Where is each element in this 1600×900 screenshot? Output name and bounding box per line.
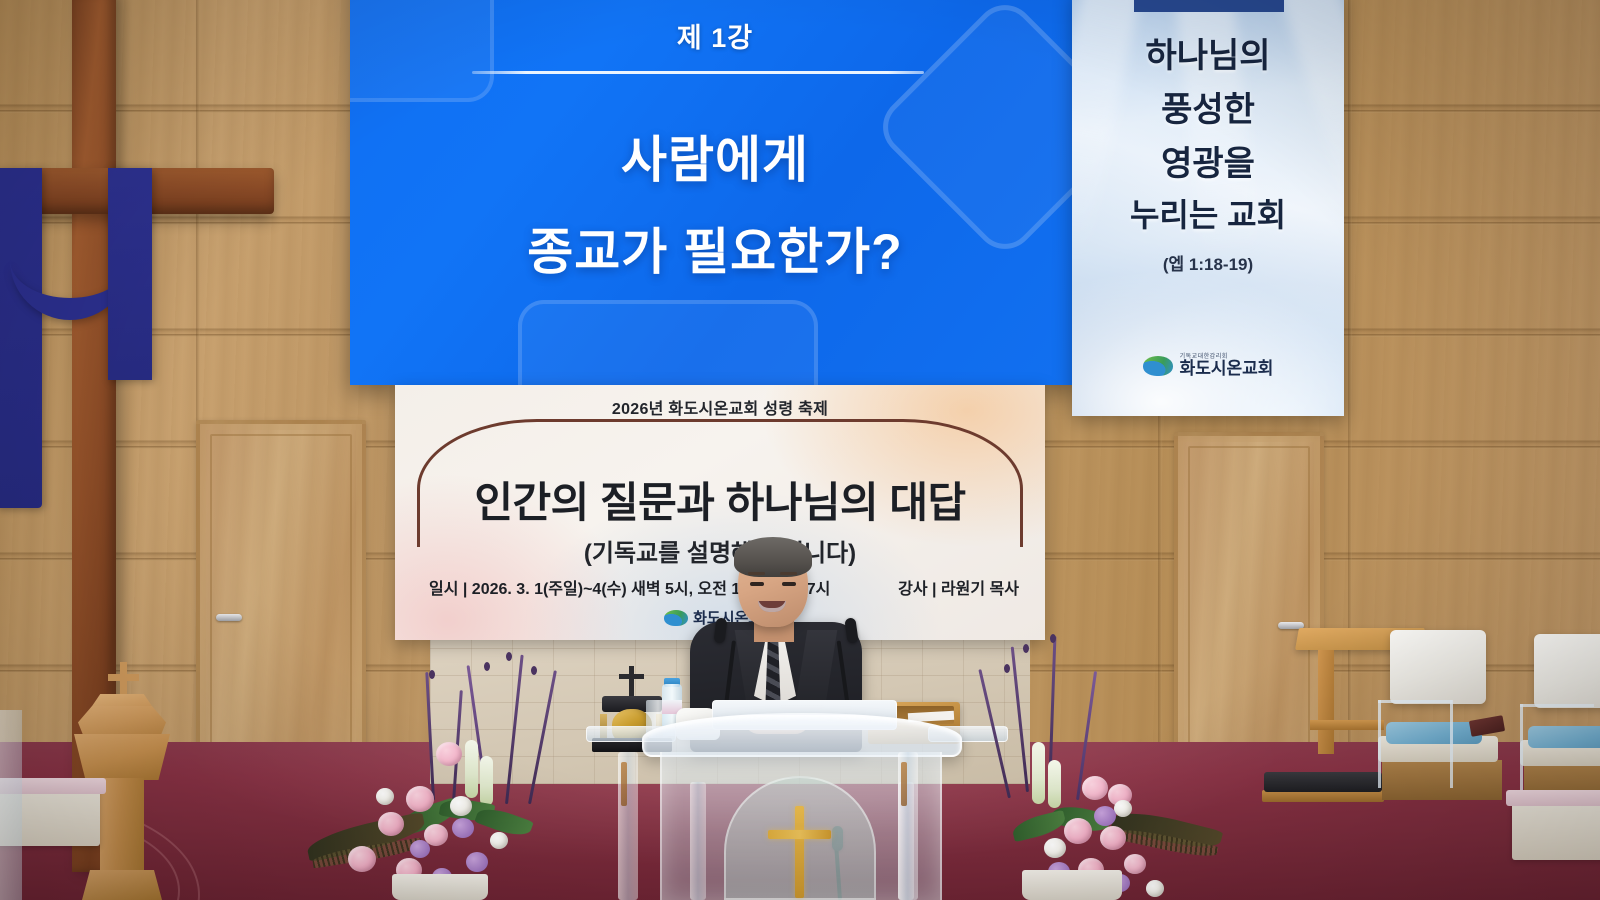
chair-back[interactable] bbox=[1534, 634, 1600, 708]
chair-cushion bbox=[1528, 726, 1600, 748]
baptismal-font-bowl bbox=[74, 734, 170, 780]
flower-vase bbox=[392, 874, 488, 900]
white-rose bbox=[490, 832, 508, 849]
bell-cross-icon bbox=[619, 674, 644, 679]
banner-eyebrow: 2026년 화도시온교회 성령 축제 bbox=[395, 395, 1045, 419]
pulpit-leg bbox=[898, 752, 918, 900]
prayer-kneeler-rail bbox=[1310, 720, 1384, 730]
church-logo: 기독교대한감리회 화도시온교회 bbox=[1072, 354, 1344, 377]
banner-meta: 일시 | 2026. 3. 1(주일)~4(수) 새벽 5시, 오전 10시, … bbox=[429, 575, 1019, 599]
flower-bud bbox=[1004, 664, 1010, 673]
white-rose bbox=[1044, 838, 1066, 858]
purple-stock bbox=[1094, 806, 1116, 826]
banner-line-4: 누리는 교회 bbox=[1072, 190, 1344, 236]
white-snapdragon bbox=[1048, 760, 1061, 808]
banner-scripture-reference: (엡 1:18-19) bbox=[1072, 250, 1344, 275]
pink-rose bbox=[436, 742, 462, 766]
banner-line-2: 풍성한 bbox=[1072, 82, 1344, 131]
pink-rose bbox=[1082, 776, 1108, 800]
banner-subtitle: (기독교를 설명해 드립니다) bbox=[395, 533, 1045, 568]
main-event-banner: 2026년 화도시온교회 성령 축제 인간의 질문과 하나님의 대답 (기독교를… bbox=[395, 385, 1045, 640]
preacher-eyebrow bbox=[780, 572, 797, 575]
banner-title: 인간의 질문과 하나님의 대답 bbox=[395, 469, 1045, 530]
white-rose bbox=[376, 788, 394, 805]
church-logo-text: 기독교대한감리회 화도시온교회 bbox=[1180, 354, 1274, 377]
white-snapdragon bbox=[465, 740, 478, 798]
door-panel bbox=[210, 434, 352, 746]
side-door-right[interactable] bbox=[1174, 432, 1324, 762]
flower-bud bbox=[531, 666, 537, 675]
slide-title-line2: 종교가 필요한가? bbox=[350, 212, 1080, 284]
cross-sash-right bbox=[108, 168, 152, 380]
pew-cushion-right bbox=[1506, 790, 1600, 806]
bell-cross-icon bbox=[629, 666, 634, 696]
banner-top-block bbox=[1134, 0, 1284, 12]
pulpit-column bbox=[690, 782, 706, 900]
cloud-graphic bbox=[1072, 262, 1344, 416]
banner-line-1: 하나님의 bbox=[1072, 28, 1344, 77]
prayer-kneeler-leg bbox=[1318, 650, 1334, 754]
chair-armrest bbox=[1520, 704, 1594, 707]
pulpit-gold-cross-icon bbox=[768, 830, 831, 839]
flower-bud bbox=[506, 652, 512, 661]
kneeler-pad bbox=[1264, 772, 1382, 792]
preacher-hair bbox=[734, 537, 812, 577]
pink-rose bbox=[1064, 818, 1092, 844]
pink-rose bbox=[1124, 854, 1146, 874]
baptismal-font-base bbox=[82, 870, 162, 900]
pink-rose bbox=[1100, 826, 1126, 850]
chair-base bbox=[1382, 760, 1502, 800]
banner-speaker: 강사 | 라원기 목사 bbox=[898, 575, 1019, 599]
chair-cushion bbox=[1386, 722, 1482, 744]
white-snapdragon bbox=[1032, 742, 1045, 804]
church-logo-icon bbox=[1143, 356, 1173, 376]
cross-sash-left bbox=[0, 168, 42, 508]
sanctuary-scene: 제 1강 사람에게 종교가 필요한가? 하나님의 풍성한 영광을 누리는 교회 … bbox=[0, 0, 1600, 900]
screen-decor-rounded-rect bbox=[518, 300, 818, 385]
side-door-left[interactable] bbox=[196, 420, 366, 760]
chair-arm-post bbox=[1378, 700, 1381, 788]
chair-back[interactable] bbox=[1390, 630, 1486, 704]
slide-divider bbox=[472, 71, 924, 74]
preacher-eye bbox=[750, 582, 764, 586]
preacher-eyebrow bbox=[748, 572, 765, 575]
white-rose bbox=[450, 796, 472, 816]
purple-stock bbox=[452, 818, 474, 838]
flower-bud bbox=[429, 670, 435, 679]
projection-screen: 제 1강 사람에게 종교가 필요한가? bbox=[350, 0, 1080, 385]
chair-arm-post bbox=[1450, 700, 1453, 788]
banner-line-3: 영광을 bbox=[1072, 136, 1344, 185]
door-handle-icon[interactable] bbox=[216, 614, 242, 621]
flower-bud bbox=[1023, 644, 1029, 653]
baptismal-font-stem bbox=[100, 778, 144, 882]
slide-lecture-number: 제 1강 bbox=[350, 16, 1080, 55]
chair-arm-post bbox=[1520, 704, 1523, 792]
pew-right bbox=[1512, 800, 1600, 860]
church-logo-icon bbox=[664, 610, 688, 626]
slide-title-line1: 사람에게 bbox=[350, 120, 1080, 192]
flower-vase bbox=[1022, 870, 1122, 900]
chair-armrest bbox=[1378, 700, 1452, 703]
logo-church-name: 화도시온교회 bbox=[1180, 360, 1274, 377]
white-rose bbox=[1146, 880, 1164, 897]
acrylic-rail-left bbox=[0, 710, 22, 900]
door-panel bbox=[1188, 446, 1310, 748]
white-rose bbox=[1114, 800, 1132, 817]
pink-rose bbox=[378, 812, 404, 836]
pink-rose bbox=[406, 786, 434, 812]
pulpit-desktop bbox=[642, 713, 962, 757]
pulpit-leg bbox=[618, 752, 638, 900]
purple-stock bbox=[410, 840, 430, 858]
preacher-eye bbox=[782, 582, 796, 586]
flower-bud bbox=[1050, 634, 1056, 643]
pulpit-gold-cross-icon bbox=[795, 806, 804, 898]
pink-rose bbox=[348, 846, 376, 872]
purple-stock bbox=[466, 852, 488, 872]
flower-bud bbox=[484, 662, 490, 671]
white-snapdragon bbox=[480, 756, 493, 806]
right-vertical-banner: 하나님의 풍성한 영광을 누리는 교회 (엡 1:18-19) 기독교대한감리회… bbox=[1072, 0, 1344, 416]
